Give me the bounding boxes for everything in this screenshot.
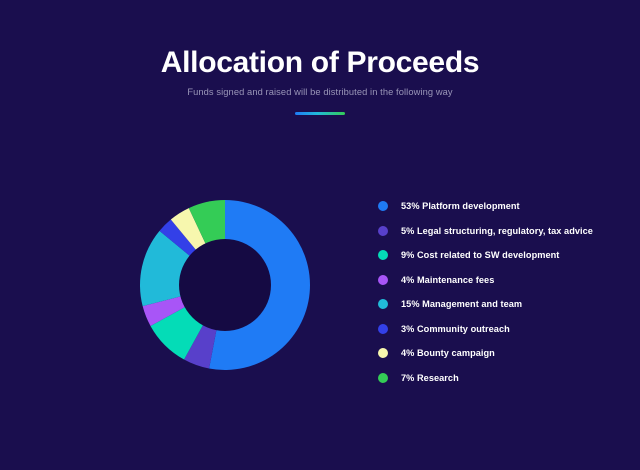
slide-root: Allocation of Proceeds Funds signed and … [0,0,640,470]
legend-item[interactable]: 53% Platform development [378,194,618,219]
legend-swatch-icon [378,201,388,211]
legend-swatch-icon [378,275,388,285]
legend: 53% Platform development5% Legal structu… [378,194,618,390]
legend-item-label: 5% Legal structuring, regulatory, tax ad… [401,226,593,236]
legend-item[interactable]: 4% Bounty campaign [378,341,618,366]
donut-center-hole [179,239,271,331]
legend-item[interactable]: 3% Community outreach [378,317,618,342]
legend-item-label: 3% Community outreach [401,324,510,334]
donut-chart-svg [140,200,310,370]
legend-item[interactable]: 9% Cost related to SW development [378,243,618,268]
accent-divider [295,112,345,115]
header: Allocation of Proceeds Funds signed and … [0,46,640,115]
legend-swatch-icon [378,373,388,383]
page-title: Allocation of Proceeds [0,46,640,80]
donut-chart [140,200,310,370]
legend-item-label: 4% Bounty campaign [401,348,495,358]
legend-item-label: 4% Maintenance fees [401,275,494,285]
legend-item-label: 53% Platform development [401,201,520,211]
legend-swatch-icon [378,324,388,334]
legend-item-label: 15% Management and team [401,299,522,309]
legend-item[interactable]: 7% Research [378,366,618,391]
legend-item-label: 7% Research [401,373,459,383]
legend-item[interactable]: 15% Management and team [378,292,618,317]
legend-item-label: 9% Cost related to SW development [401,250,559,260]
legend-item[interactable]: 4% Maintenance fees [378,268,618,293]
legend-swatch-icon [378,250,388,260]
page-subtitle: Funds signed and raised will be distribu… [0,85,640,99]
legend-swatch-icon [378,226,388,236]
legend-item[interactable]: 5% Legal structuring, regulatory, tax ad… [378,219,618,244]
legend-swatch-icon [378,299,388,309]
legend-swatch-icon [378,348,388,358]
